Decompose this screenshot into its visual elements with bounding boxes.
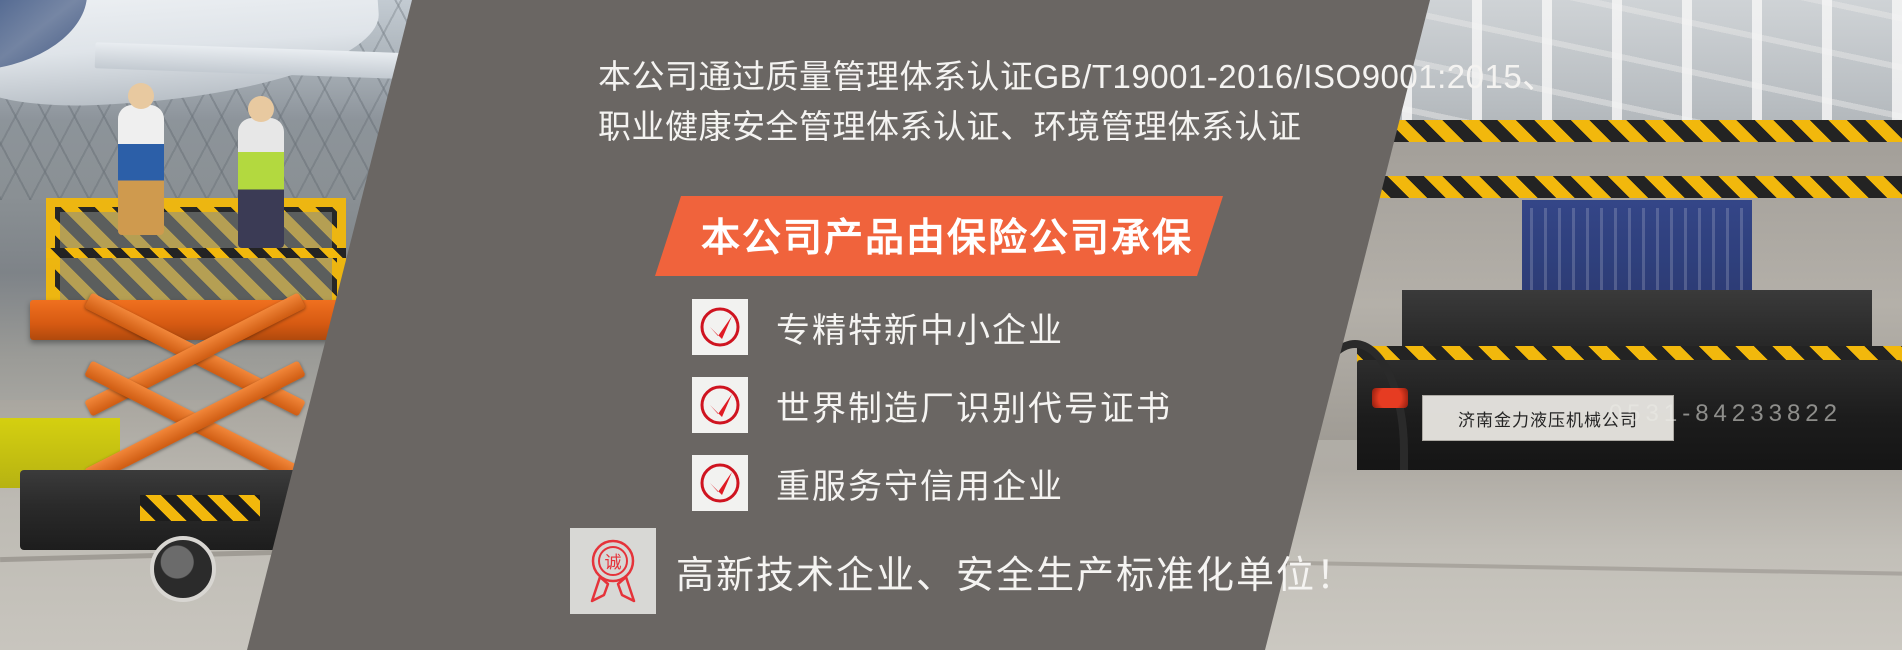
headline-line-2: 职业健康安全管理体系认证、环境管理体系认证 — [598, 102, 1538, 152]
insurance-ribbon-wrapper: 本公司产品由保险公司承保 — [655, 196, 1223, 276]
check-circle-icon — [692, 455, 748, 511]
award-ribbon-icon: 诚 — [570, 528, 656, 614]
list-item: 世界制造厂识别代号证书 — [692, 366, 1172, 444]
check-circle-icon — [692, 299, 748, 355]
high-tech-enterprise-label: 高新技术企业、安全生产标准化单位！ — [676, 544, 1356, 599]
certification-banner: 济南金力液压机械公司 0531-84233822 本公司通过质量管理体系认证GB… — [0, 0, 1902, 650]
list-item: 专精特新中小企业 — [692, 288, 1172, 366]
award-icon-glyph: 诚 — [605, 553, 622, 573]
list-item: 重服务守信用企业 — [692, 444, 1172, 522]
check-circle-icon — [692, 377, 748, 433]
insurance-ribbon-label: 本公司产品由保险公司承保 — [655, 196, 1223, 276]
list-item-label: 重服务守信用企业 — [776, 459, 1064, 508]
headline-line-1: 本公司通过质量管理体系认证GB/T19001-2016/ISO9001:2015… — [598, 52, 1538, 102]
certification-headline: 本公司通过质量管理体系认证GB/T19001-2016/ISO9001:2015… — [598, 52, 1538, 152]
list-item-label: 专精特新中小企业 — [776, 303, 1064, 352]
list-item-label: 世界制造厂识别代号证书 — [776, 381, 1172, 430]
high-tech-enterprise-row: 诚 高新技术企业、安全生产标准化单位！ — [570, 528, 1356, 614]
banner-content: 本公司通过质量管理体系认证GB/T19001-2016/ISO9001:2015… — [0, 0, 1902, 650]
certification-check-list: 专精特新中小企业 世界制造厂识别代号证书 重 — [692, 288, 1172, 522]
